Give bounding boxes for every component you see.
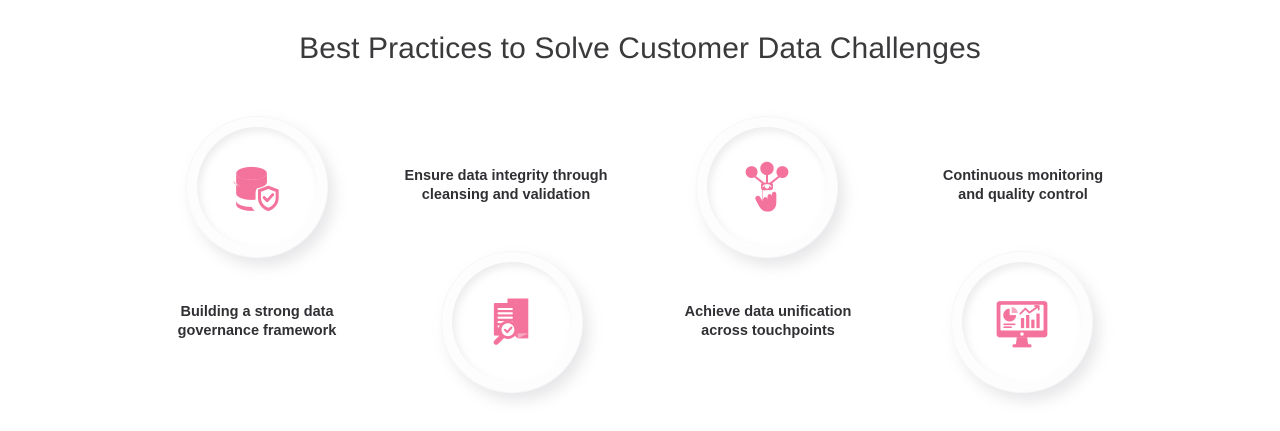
hand-touchpoints-network-icon [696,116,838,258]
caption-data-governance: Building a strong data governance framew… [152,303,362,341]
infographic-canvas: Best Practices to Solve Customer Data Ch… [0,0,1280,431]
caption-continuous-monitoring: Continuous monitoring and quality contro… [917,167,1129,205]
caption-line-1: Continuous monitoring [943,168,1103,184]
monitor-dashboard-analytics-icon [951,251,1093,393]
badge-data-integrity [441,251,583,393]
documents-magnifier-check-icon [441,251,583,393]
caption-line-2: across touchpoints [701,323,835,339]
caption-line-1: Ensure data integrity through [404,168,607,184]
database-shield-icon [186,116,328,258]
caption-line-2: cleansing and validation [422,187,590,203]
caption-line-1: Building a strong data [180,304,333,320]
badge-data-unification [696,116,838,258]
caption-line-2: governance framework [178,323,337,339]
caption-line-1: Achieve data unification [685,304,852,320]
badge-continuous-monitoring [951,251,1093,393]
caption-data-integrity: Ensure data integrity through cleansing … [388,167,624,205]
page-title: Best Practices to Solve Customer Data Ch… [0,32,1280,66]
caption-line-2: and quality control [958,187,1088,203]
badge-data-governance [186,116,328,258]
caption-data-unification: Achieve data unification across touchpoi… [662,303,874,341]
